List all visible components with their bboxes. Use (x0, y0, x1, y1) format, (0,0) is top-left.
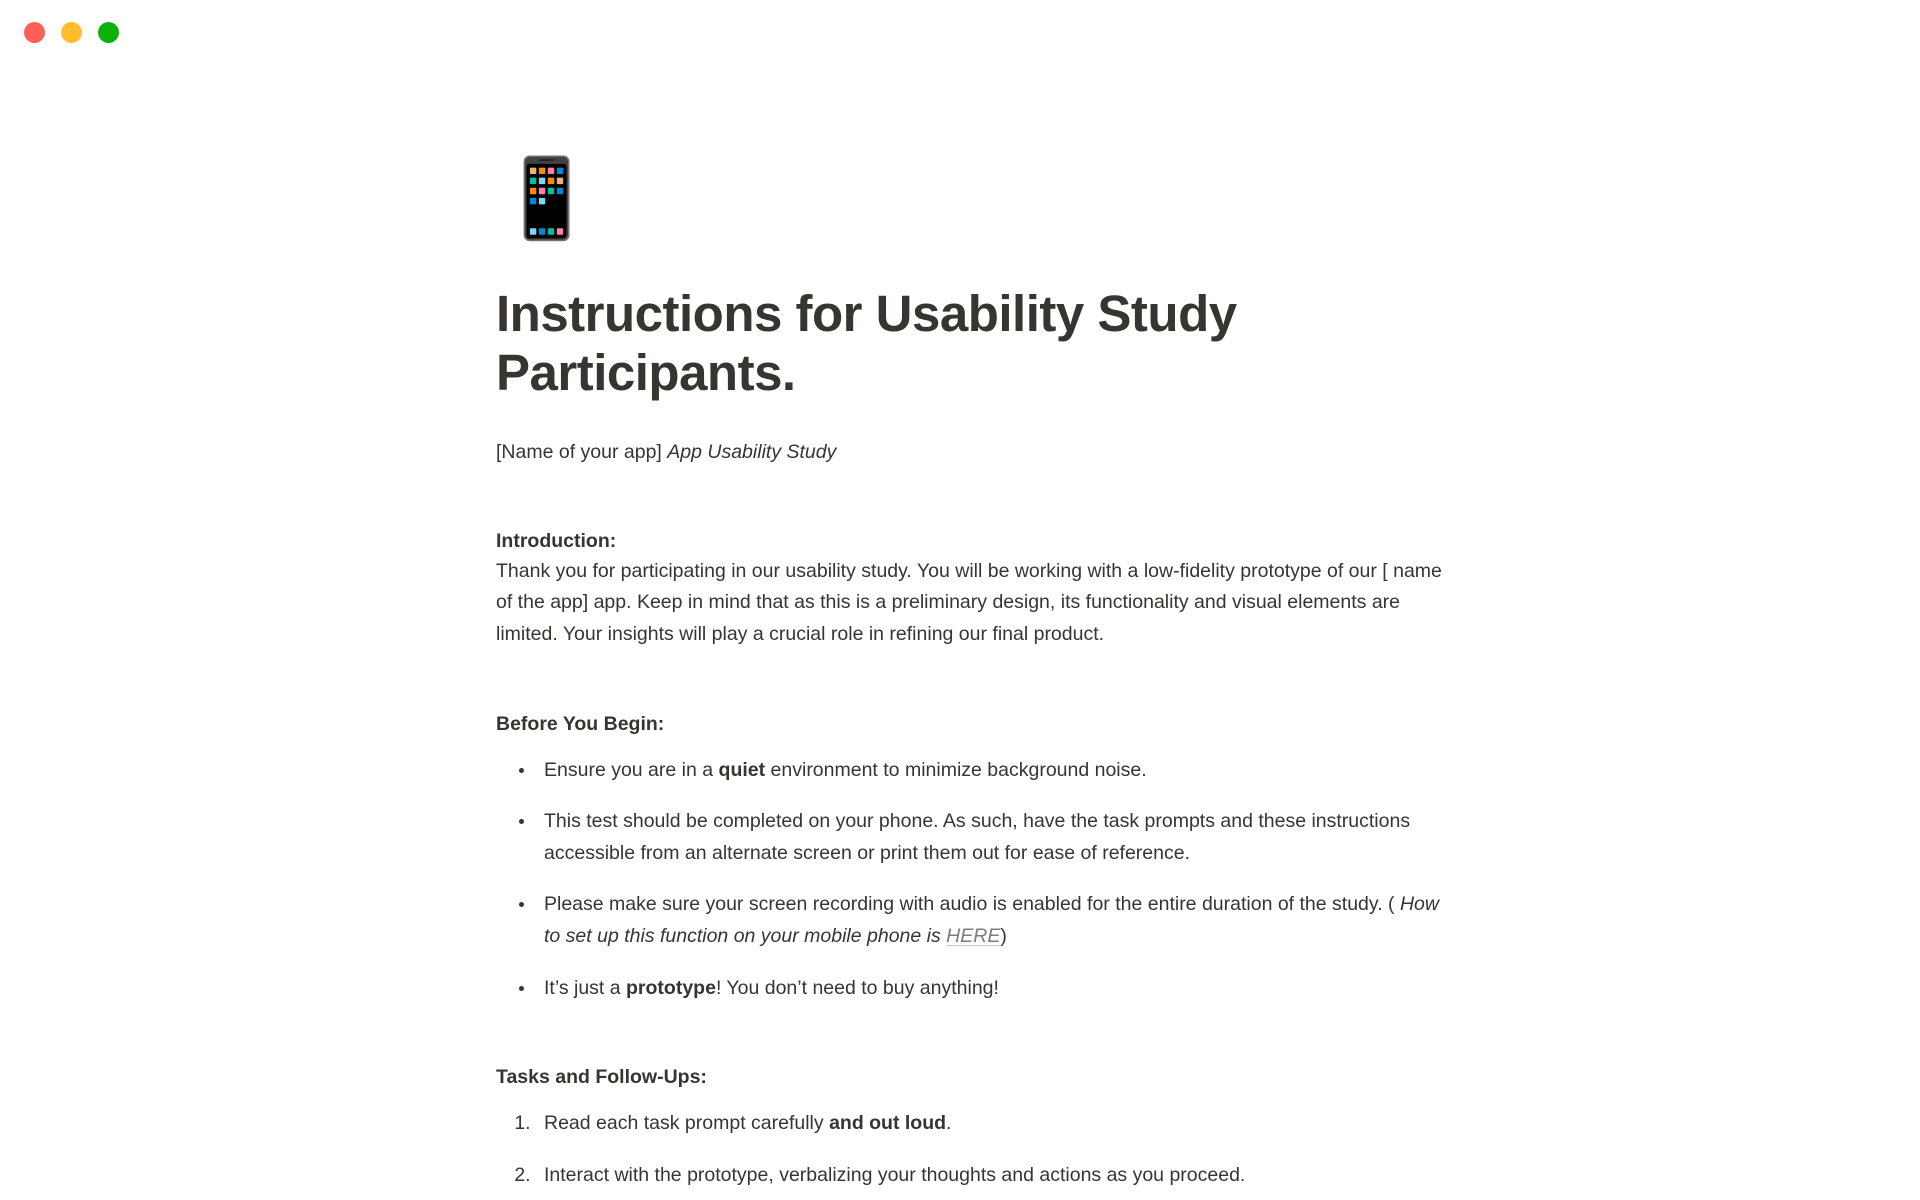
close-window-button[interactable] (24, 22, 45, 43)
page-subtitle[interactable]: [Name of your app] App Usability Study (496, 438, 1444, 467)
section-introduction: Introduction: Thank you for participatin… (496, 526, 1444, 651)
subtitle-app-placeholder: [Name of your app] (496, 441, 667, 463)
list-item[interactable]: This test should be completed on your ph… (536, 806, 1444, 869)
here-link[interactable]: HERE (946, 925, 1000, 947)
list-item[interactable]: Please make sure your screen recording w… (536, 889, 1444, 952)
list-item[interactable]: Ensure you are in a quiet environment to… (536, 755, 1444, 787)
list-item-text: It’s just a (544, 977, 626, 999)
list-item-text: . (946, 1112, 951, 1134)
window-titlebar (0, 0, 1920, 62)
list-item-text: ) (1000, 925, 1007, 947)
page-title[interactable]: Instructions for Usability Study Partici… (496, 284, 1296, 402)
before-you-begin-heading: Before You Begin: (496, 709, 1444, 739)
list-item-emphasis: quiet (719, 759, 766, 781)
mobile-phone-emoji-icon[interactable]: 📱 (498, 160, 1444, 262)
list-item-text: Read each task prompt carefully (544, 1112, 829, 1134)
traffic-light-controls (24, 22, 119, 43)
section-tasks-and-follow-ups: Tasks and Follow-Ups: Read each task pro… (496, 1062, 1444, 1200)
list-item-text: This test should be completed on your ph… (544, 810, 1410, 864)
subtitle-study-label: App Usability Study (667, 441, 836, 463)
tasks-and-follow-ups-heading: Tasks and Follow-Ups: (496, 1062, 1444, 1092)
list-item[interactable]: It’s just a prototype! You don’t need to… (536, 973, 1444, 1005)
list-item-text: Ensure you are in a (544, 759, 719, 781)
list-item-text: Please make sure your screen recording w… (544, 893, 1400, 915)
list-item[interactable]: Interact with the prototype, verbalizing… (536, 1160, 1444, 1192)
list-item-text: environment to minimize background noise… (765, 759, 1147, 781)
list-item-text: Interact with the prototype, verbalizing… (544, 1164, 1245, 1186)
list-item-emphasis: prototype (626, 977, 716, 999)
document-content: 📱 Instructions for Usability Study Parti… (496, 160, 1444, 1200)
maximize-window-button[interactable] (98, 22, 119, 43)
introduction-heading: Introduction: (496, 526, 1444, 556)
list-item-text: ! You don’t need to buy anything! (716, 977, 999, 999)
introduction-paragraph[interactable]: Thank you for participating in our usabi… (496, 556, 1444, 651)
tasks-and-follow-ups-list: Read each task prompt carefully and out … (496, 1108, 1444, 1200)
before-you-begin-list: Ensure you are in a quiet environment to… (496, 755, 1444, 1004)
minimize-window-button[interactable] (61, 22, 82, 43)
list-item-emphasis: and out loud (829, 1112, 946, 1134)
list-item[interactable]: Read each task prompt carefully and out … (536, 1108, 1444, 1140)
document-page: 📱 Instructions for Usability Study Parti… (0, 0, 1920, 1200)
section-before-you-begin: Before You Begin: Ensure you are in a qu… (496, 709, 1444, 1005)
